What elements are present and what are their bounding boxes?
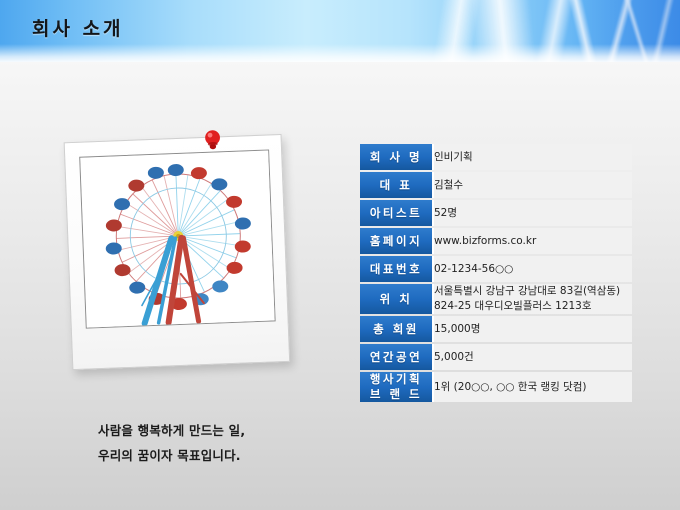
table-row: 행사기획 브 랜 드 1위 (20○○, ○○ 한국 랭킹 닷컴) (360, 372, 632, 402)
row-value-line: 김철수 (434, 178, 632, 193)
row-label: 아티스트 (360, 200, 432, 226)
row-value-line: 인비기획 (434, 150, 632, 165)
info-table-body: 회 사 명 인비기획 대 표 김철수 아티스트 52명 홈페이지 (360, 144, 632, 402)
pushpin-icon (201, 128, 224, 151)
row-value-line: www.bizforms.co.kr (434, 234, 632, 249)
polaroid-photo (64, 134, 295, 374)
ferris-wheel-image (80, 150, 275, 328)
row-label: 위 치 (360, 284, 432, 314)
caption-line-1: 사람을 행복하게 만드는 일, (98, 418, 245, 443)
row-value: www.bizforms.co.kr (432, 228, 632, 254)
header-shine (0, 44, 680, 62)
row-value: 1위 (20○○, ○○ 한국 랭킹 닷컴) (432, 372, 632, 402)
row-label: 대 표 (360, 172, 432, 198)
table-row: 위 치 서울특별시 강남구 강남대로 83길(역삼동) 824-25 대우디오빌… (360, 284, 632, 314)
row-label-line-1: 행사기획 (360, 372, 432, 387)
table-row: 연간공연 5,000건 (360, 344, 632, 370)
row-value-line-2: 824-25 대우디오빌플러스 1213호 (434, 299, 632, 314)
row-value: 김철수 (432, 172, 632, 198)
row-value-line: 02-1234-56○○ (434, 262, 632, 277)
row-value-line: 15,000명 (434, 322, 632, 337)
row-value-line: 서울특별시 강남구 강남대로 83길(역삼동) (434, 284, 632, 299)
row-label: 대표번호 (360, 256, 432, 282)
polaroid-frame (64, 134, 291, 370)
row-label: 연간공연 (360, 344, 432, 370)
slide-header-banner: 회사 소개 (0, 0, 680, 62)
row-label: 홈페이지 (360, 228, 432, 254)
table-row: 홈페이지 www.bizforms.co.kr (360, 228, 632, 254)
photo-frame (79, 149, 275, 328)
row-value: 5,000건 (432, 344, 632, 370)
table-row: 회 사 명 인비기획 (360, 144, 632, 170)
row-value-line: 52명 (434, 206, 632, 221)
row-value: 인비기획 (432, 144, 632, 170)
company-info-table: 회 사 명 인비기획 대 표 김철수 아티스트 52명 홈페이지 (360, 142, 632, 404)
row-value: 52명 (432, 200, 632, 226)
slide-canvas: 회사 소개 (0, 0, 680, 510)
table-row: 아티스트 52명 (360, 200, 632, 226)
row-value: 서울특별시 강남구 강남대로 83길(역삼동) 824-25 대우디오빌플러스 … (432, 284, 632, 314)
row-value: 15,000명 (432, 316, 632, 342)
row-label: 회 사 명 (360, 144, 432, 170)
row-label: 행사기획 브 랜 드 (360, 372, 432, 402)
row-label: 총 회원 (360, 316, 432, 342)
row-label-line-2: 브 랜 드 (360, 387, 432, 402)
table-row: 총 회원 15,000명 (360, 316, 632, 342)
row-value: 02-1234-56○○ (432, 256, 632, 282)
table-row: 대표번호 02-1234-56○○ (360, 256, 632, 282)
row-value-line: 5,000건 (434, 350, 632, 365)
caption-line-2: 우리의 꿈이자 목표입니다. (98, 443, 245, 468)
slide-caption: 사람을 행복하게 만드는 일, 우리의 꿈이자 목표입니다. (98, 418, 245, 468)
table-row: 대 표 김철수 (360, 172, 632, 198)
row-value-line: 1위 (20○○, ○○ 한국 랭킹 닷컴) (434, 380, 632, 395)
page-title: 회사 소개 (32, 14, 124, 41)
